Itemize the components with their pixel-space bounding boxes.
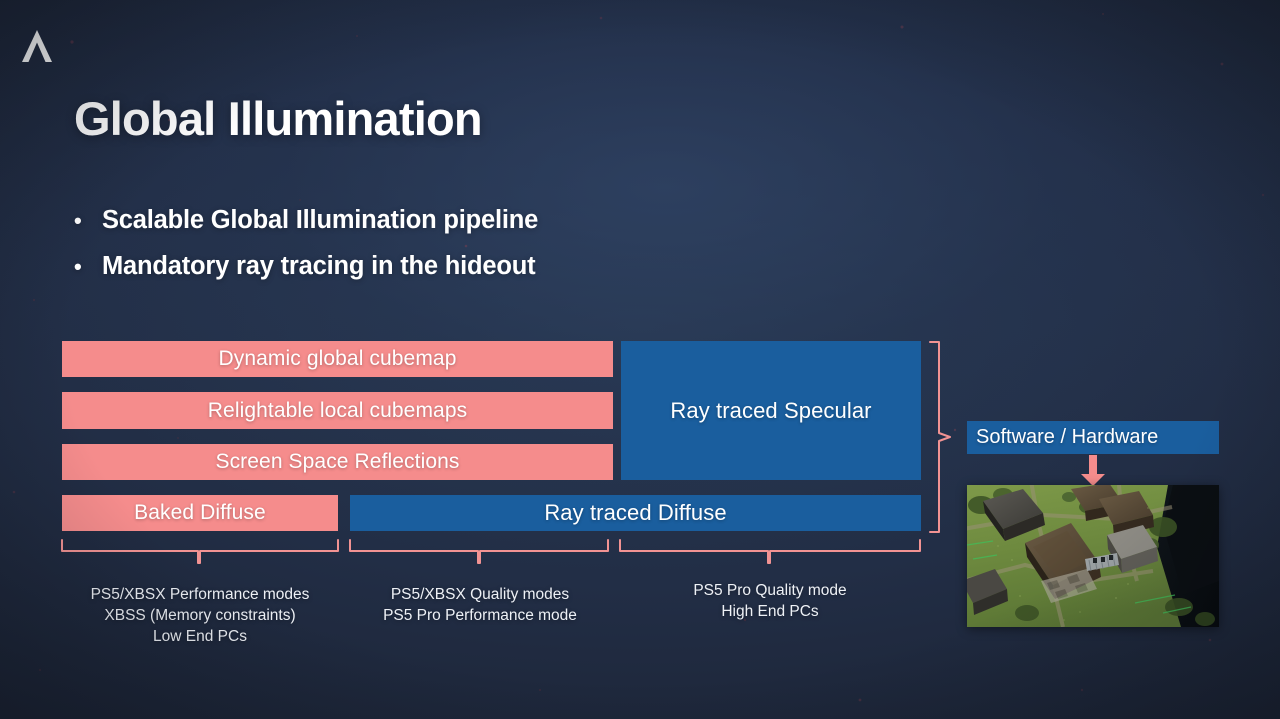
block-relightable-local-cubemaps: Relightable local cubemaps xyxy=(62,392,613,429)
caption-line: High End PCs xyxy=(620,602,920,623)
block-dynamic-global-cubemap: Dynamic global cubemap xyxy=(62,341,613,377)
bullet-text: Mandatory ray tracing in the hideout xyxy=(102,252,535,281)
bracket-svg xyxy=(348,538,614,566)
caption-line: PS5 Pro Quality mode xyxy=(620,581,920,602)
list-item: • Mandatory ray tracing in the hideout xyxy=(74,252,834,281)
block-baked-diffuse: Baked Diffuse xyxy=(62,495,338,531)
block-label: Screen Space Reflections xyxy=(215,450,459,474)
caption-quality: PS5/XBSX Quality modes PS5 Pro Performan… xyxy=(350,585,610,627)
software-hardware-label: Software / Hardware xyxy=(967,421,1219,454)
bracket-svg xyxy=(60,538,342,566)
bullet-list: • Scalable Global Illumination pipeline … xyxy=(74,206,834,298)
logo-svg xyxy=(20,28,54,64)
caption-performance: PS5/XBSX Performance modes XBSS (Memory … xyxy=(62,585,338,648)
bracket-ps5pro-quality xyxy=(618,538,924,566)
bracket-software-hardware xyxy=(928,338,954,536)
down-arrow-icon xyxy=(1078,455,1108,487)
bracket-svg xyxy=(928,338,954,536)
block-label: Ray traced Diffuse xyxy=(544,500,726,526)
bullet-text: Scalable Global Illumination pipeline xyxy=(102,206,538,235)
block-label: Relightable local cubemaps xyxy=(208,399,467,423)
block-label: Ray traced Specular xyxy=(670,398,871,424)
caption-line: Low End PCs xyxy=(62,627,338,648)
block-label: Baked Diffuse xyxy=(134,501,266,525)
arrowhead-chevron-logo-icon xyxy=(20,28,54,64)
bullet-marker-icon: • xyxy=(74,210,102,232)
hideout-thumbnail xyxy=(967,485,1219,627)
caption-line: PS5 Pro Performance mode xyxy=(350,606,610,627)
bracket-svg xyxy=(618,538,924,566)
list-item: • Scalable Global Illumination pipeline xyxy=(74,206,834,235)
block-label: Dynamic global cubemap xyxy=(219,347,457,371)
page-title: Global Illumination xyxy=(74,94,482,143)
software-hardware-text: Software / Hardware xyxy=(976,426,1158,449)
block-screen-space-reflections: Screen Space Reflections xyxy=(62,444,613,480)
thumbnail-svg xyxy=(967,485,1219,627)
bullet-marker-icon: • xyxy=(74,256,102,278)
caption-line: XBSS (Memory constraints) xyxy=(62,606,338,627)
caption-line: PS5/XBSX Performance modes xyxy=(62,585,338,606)
slide-canvas: Global Illumination • Scalable Global Il… xyxy=(0,0,1280,719)
caption-ps5pro: PS5 Pro Quality mode High End PCs xyxy=(620,581,920,623)
block-ray-traced-diffuse: Ray traced Diffuse xyxy=(350,495,921,531)
bracket-performance-modes xyxy=(60,538,342,566)
caption-line: PS5/XBSX Quality modes xyxy=(350,585,610,606)
arrow-svg xyxy=(1078,455,1108,487)
block-ray-traced-specular: Ray traced Specular xyxy=(621,341,921,480)
bracket-quality-modes xyxy=(348,538,614,566)
